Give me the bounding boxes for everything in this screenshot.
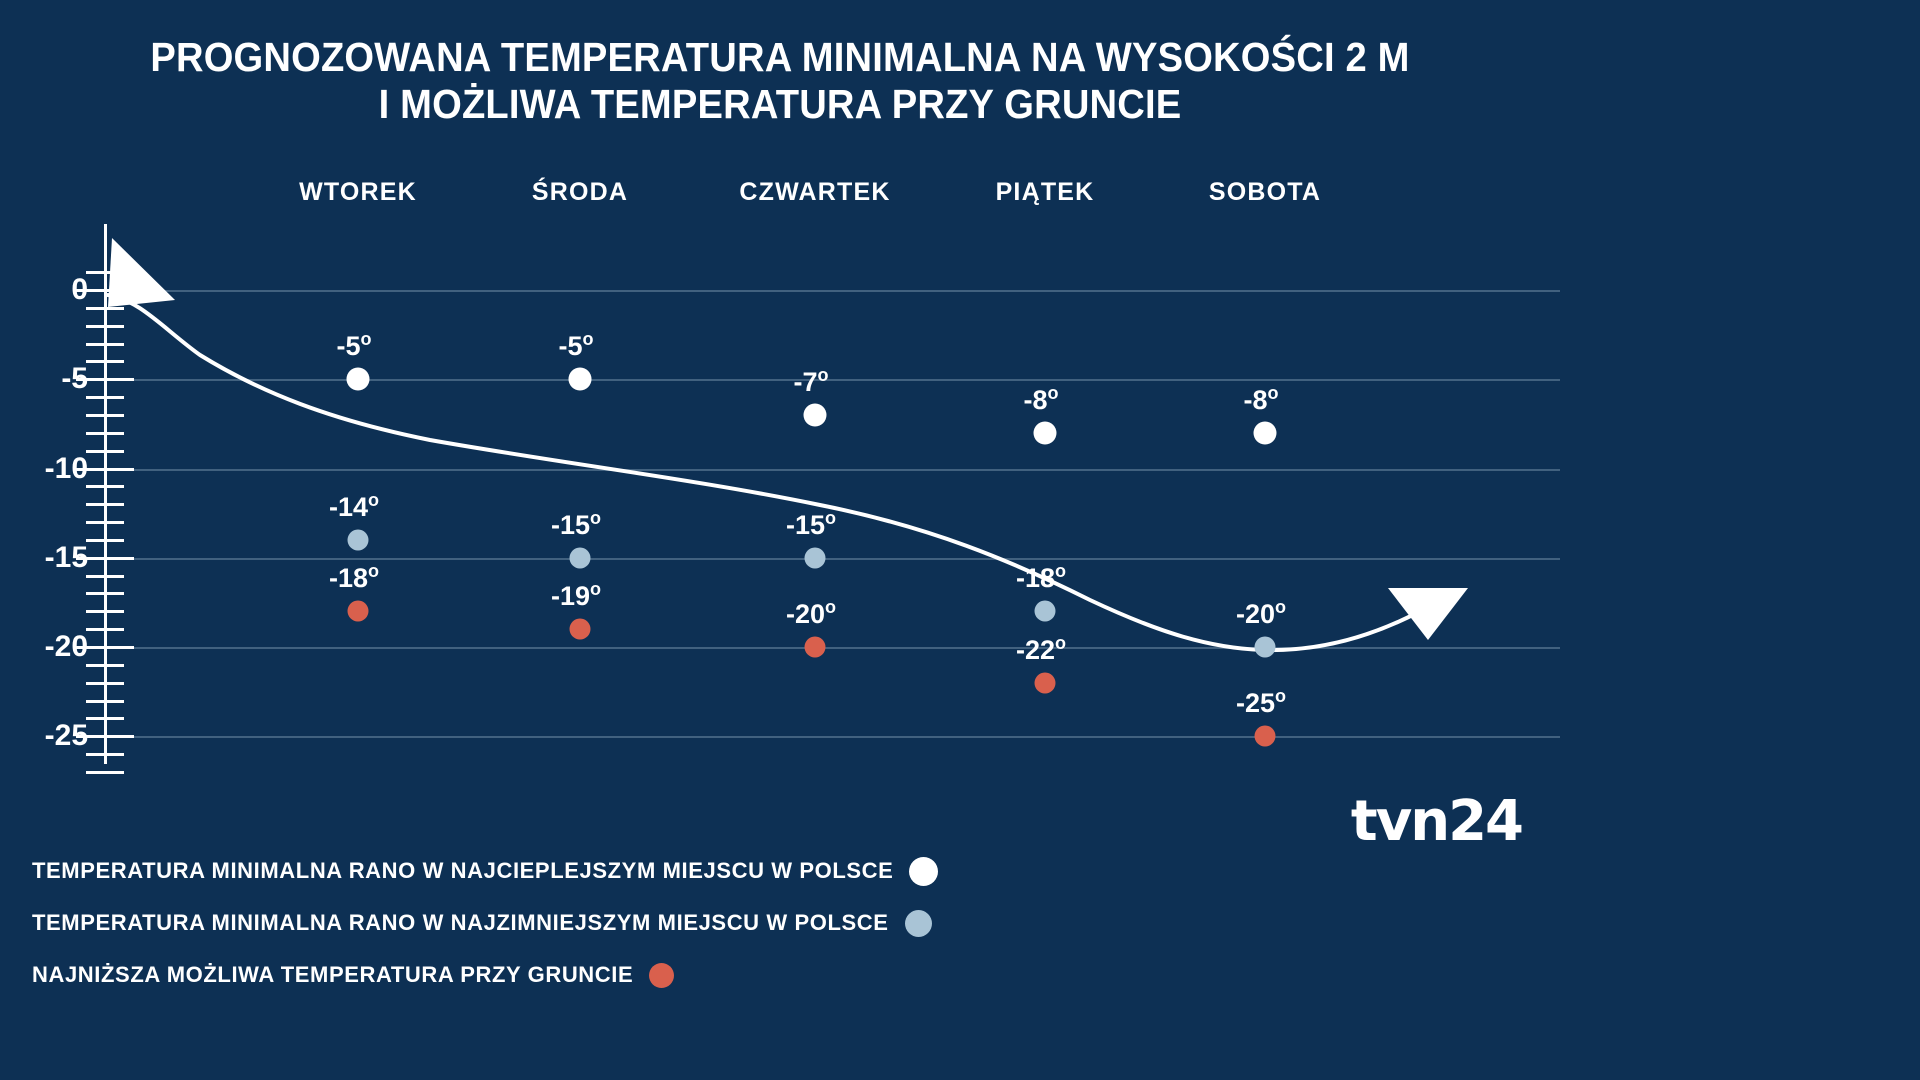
tick-minor bbox=[86, 450, 124, 453]
data-point-red bbox=[1035, 672, 1056, 693]
y-axis-labels: 0-5-10-15-20-25 bbox=[0, 0, 88, 880]
data-point-label: -15o bbox=[551, 510, 601, 541]
data-point-label: -8o bbox=[1023, 385, 1058, 416]
tick-minor bbox=[86, 521, 124, 524]
data-point-label: -19o bbox=[551, 581, 601, 612]
tick-minor bbox=[86, 771, 124, 774]
y-axis-label: -20 bbox=[45, 630, 88, 664]
gridline bbox=[105, 379, 1560, 381]
gridline bbox=[105, 469, 1560, 471]
data-point-white bbox=[804, 403, 827, 426]
infographic-stage: PROGNOZOWANA TEMPERATURA MINIMALNA NA WY… bbox=[0, 0, 1560, 880]
data-point-white bbox=[347, 368, 370, 391]
tick-minor bbox=[86, 503, 124, 506]
legend-label: NAJNIŻSZA MOŻLIWA TEMPERATURA PRZY GRUNC… bbox=[32, 962, 633, 988]
tick-minor bbox=[86, 485, 124, 488]
legend-white-dot bbox=[909, 857, 938, 886]
data-point-label: -5o bbox=[558, 331, 593, 362]
data-point-label: -18o bbox=[1016, 563, 1066, 594]
data-point-lightblue bbox=[348, 529, 369, 550]
tick-minor bbox=[86, 432, 124, 435]
data-point-lightblue bbox=[1255, 637, 1276, 658]
day-label-sobota: SOBOTA bbox=[1209, 178, 1321, 207]
legend-label: TEMPERATURA MINIMALNA RANO W NAJCIEPLEJS… bbox=[32, 858, 893, 884]
legend-red-dot bbox=[649, 963, 674, 988]
data-point-label: -18o bbox=[329, 563, 379, 594]
temperature-chart: 0-5-10-15-20-25 WTOREKŚRODACZWARTEKPIĄTE… bbox=[0, 0, 1560, 880]
day-label-czwartek: CZWARTEK bbox=[739, 178, 890, 207]
tick-minor bbox=[86, 717, 124, 720]
legend-lightblue-dot bbox=[905, 910, 932, 937]
tick-minor bbox=[86, 592, 124, 595]
day-label-wtorek: WTOREK bbox=[299, 178, 417, 207]
data-point-label: -7o bbox=[793, 367, 828, 398]
y-axis-label: -25 bbox=[45, 719, 88, 753]
day-label-piątek: PIĄTEK bbox=[996, 178, 1095, 207]
legend-item: TEMPERATURA MINIMALNA RANO W NAJCIEPLEJS… bbox=[32, 845, 1232, 897]
tick-minor bbox=[86, 753, 124, 756]
data-point-label: -25o bbox=[1236, 688, 1286, 719]
tick-minor bbox=[86, 610, 124, 613]
tick-minor bbox=[86, 325, 124, 328]
tick-minor bbox=[86, 414, 124, 417]
data-point-red bbox=[348, 601, 369, 622]
tick-minor bbox=[86, 664, 124, 667]
legend-label: TEMPERATURA MINIMALNA RANO W NAJZIMNIEJS… bbox=[32, 910, 889, 936]
y-axis-label: -10 bbox=[45, 452, 88, 486]
gridline bbox=[105, 736, 1560, 738]
data-point-label: -20o bbox=[786, 599, 836, 630]
tick-minor bbox=[86, 396, 124, 399]
data-point-label: -14o bbox=[329, 492, 379, 523]
y-axis-label: -5 bbox=[61, 362, 88, 396]
gridline bbox=[105, 290, 1560, 292]
data-point-red bbox=[1255, 726, 1276, 747]
gridline bbox=[105, 558, 1560, 560]
legend-item: TEMPERATURA MINIMALNA RANO W NAJZIMNIEJS… bbox=[32, 897, 1232, 949]
tick-minor bbox=[86, 628, 124, 631]
data-point-red bbox=[805, 637, 826, 658]
legend-item: NAJNIŻSZA MOŻLIWA TEMPERATURA PRZY GRUNC… bbox=[32, 949, 1232, 1001]
data-point-label: -15o bbox=[786, 510, 836, 541]
data-point-red bbox=[570, 619, 591, 640]
tick-minor bbox=[86, 360, 124, 363]
tick-minor bbox=[86, 271, 124, 274]
data-point-label: -5o bbox=[336, 331, 371, 362]
trend-curve bbox=[0, 0, 1560, 880]
tick-minor bbox=[86, 700, 124, 703]
data-point-white bbox=[1034, 421, 1057, 444]
data-point-lightblue bbox=[570, 547, 591, 568]
data-point-label: -20o bbox=[1236, 599, 1286, 630]
tick-minor bbox=[86, 682, 124, 685]
tick-minor bbox=[86, 343, 124, 346]
tvn24-logo: tvn24 bbox=[1351, 789, 1522, 854]
gridline bbox=[105, 647, 1560, 649]
chart-legend: TEMPERATURA MINIMALNA RANO W NAJCIEPLEJS… bbox=[32, 845, 1232, 1001]
data-point-lightblue bbox=[805, 547, 826, 568]
data-point-label: -8o bbox=[1243, 385, 1278, 416]
data-point-white bbox=[569, 368, 592, 391]
data-point-label: -22o bbox=[1016, 635, 1066, 666]
tick-minor bbox=[86, 539, 124, 542]
day-label-środa: ŚRODA bbox=[532, 178, 628, 207]
data-point-lightblue bbox=[1035, 601, 1056, 622]
y-axis-label: 0 bbox=[71, 273, 88, 307]
tick-minor bbox=[86, 307, 124, 310]
tick-minor bbox=[86, 575, 124, 578]
y-axis-label: -15 bbox=[45, 541, 88, 575]
data-point-white bbox=[1254, 421, 1277, 444]
